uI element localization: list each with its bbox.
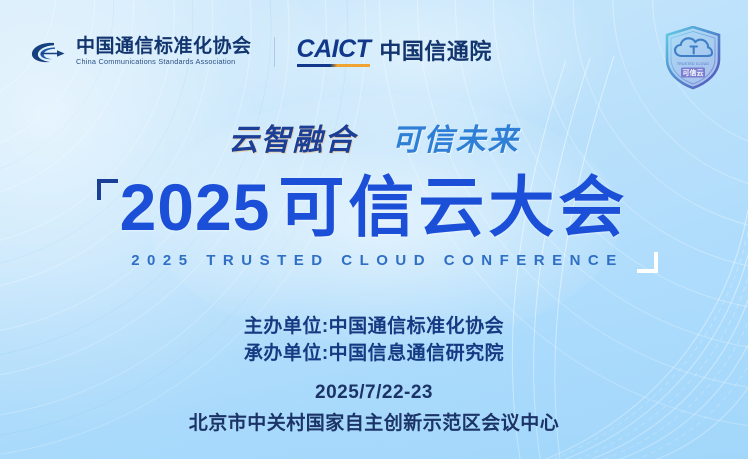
caict-chinese-name: 中国信通院 <box>379 40 492 64</box>
info-block: 主办单位:中国通信标准化协会 承办单位:中国信息通信研究院 2025/7/22-… <box>0 313 748 435</box>
ccsa-english-name: China Communications Standards Associati… <box>76 57 246 67</box>
caict-acronym: CAICT <box>297 36 371 67</box>
caict-logo: CAICT 中国信通院 <box>297 36 492 67</box>
ccsa-logo: 中国通信标准化协会 China Communications Standards… <box>28 36 252 67</box>
trusted-cloud-shield-badge: TRUSTED CLOUD 可信云 <box>664 26 722 90</box>
co-organizer-line: 承办单位:中国信息通信研究院 <box>0 340 748 367</box>
conference-banner: 中国通信标准化协会 China Communications Standards… <box>0 0 748 459</box>
ccsa-chinese-name: 中国通信标准化协会 <box>76 36 252 57</box>
subtitle-english: 2025 TRUSTED CLOUD CONFERENCE <box>0 252 748 269</box>
organizer-line: 主办单位:中国通信标准化协会 <box>0 313 748 340</box>
tagline: 云智融合 可信未来 <box>0 126 748 164</box>
ccsa-swoosh-icon <box>28 37 68 67</box>
headline-block: 云智融合 可信未来 2025可信云大会 2025 TRUSTED CLOUD C… <box>0 126 748 269</box>
logo-divider <box>274 37 275 67</box>
tagline-part-2: 可信未来 <box>392 124 520 157</box>
main-title-chinese: 可信云大会 <box>278 170 628 244</box>
badge-english-label: TRUSTED CLOUD <box>677 62 709 66</box>
logo-row: 中国通信标准化协会 China Communications Standards… <box>28 36 492 67</box>
badge-chinese-label: 可信云 <box>683 68 704 77</box>
event-venue: 北京市中关村国家自主创新示范区会议中心 <box>0 408 748 435</box>
tagline-part-1: 云智融合 <box>229 124 357 157</box>
ccsa-text-block: 中国通信标准化协会 China Communications Standards… <box>76 36 252 67</box>
main-title: 2025可信云大会 <box>0 172 748 243</box>
event-date: 2025/7/22-23 <box>0 382 748 404</box>
main-title-year: 2025 <box>120 170 271 244</box>
